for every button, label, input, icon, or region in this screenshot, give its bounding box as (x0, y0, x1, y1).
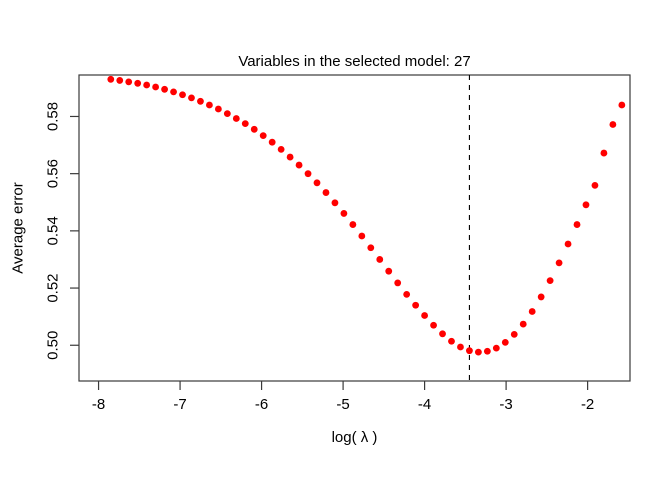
data-point (323, 189, 330, 196)
data-point (143, 82, 150, 89)
data-point (457, 344, 464, 351)
data-point (511, 331, 518, 338)
data-point (609, 121, 616, 128)
data-point (278, 146, 285, 153)
plot-window: -8-7-6-5-4-3-2 0.500.520.540.560.58 Vari… (0, 0, 672, 480)
data-point (215, 106, 222, 113)
data-point (269, 139, 276, 146)
cv-error-vs-log-lambda-plot: -8-7-6-5-4-3-2 0.500.520.540.560.58 Vari… (0, 0, 672, 480)
data-point (116, 77, 123, 84)
data-point (547, 277, 554, 284)
data-point (601, 150, 608, 157)
y-tick-label: 0.58 (45, 102, 62, 131)
data-point (403, 291, 410, 298)
data-point (439, 330, 446, 337)
plot-title: Variables in the selected model: 27 (238, 53, 470, 70)
data-point (188, 94, 195, 101)
data-point (618, 102, 625, 109)
data-point (475, 349, 482, 356)
data-point (556, 259, 563, 266)
data-point (583, 201, 590, 208)
data-point (421, 312, 428, 319)
x-tick-label: -3 (499, 396, 512, 413)
data-point (565, 241, 572, 248)
data-point (538, 294, 545, 301)
data-point (161, 86, 168, 93)
data-point (341, 210, 348, 217)
y-axis-ticks (70, 116, 79, 345)
data-point (484, 348, 491, 355)
x-tick-label: -5 (336, 396, 349, 413)
data-point (394, 280, 401, 287)
y-axis-title: Average error (10, 182, 27, 273)
data-point (412, 302, 419, 309)
data-point (314, 179, 321, 186)
data-point (592, 182, 599, 189)
data-point (493, 345, 500, 352)
y-tick-label: 0.54 (45, 216, 62, 245)
plot-frame (79, 75, 630, 381)
data-point (197, 98, 204, 105)
data-point (502, 339, 509, 346)
data-point (332, 199, 339, 206)
data-point (430, 322, 437, 329)
data-point (349, 221, 356, 228)
data-point (206, 102, 213, 109)
x-axis-tick-labels: -8-7-6-5-4-3-2 (92, 396, 594, 413)
data-point (287, 154, 294, 161)
x-tick-label: -6 (255, 396, 268, 413)
data-point (385, 268, 392, 275)
y-tick-label: 0.56 (45, 159, 62, 188)
data-point (520, 321, 527, 328)
data-point (358, 233, 365, 240)
data-point (170, 88, 177, 95)
y-tick-label: 0.52 (45, 273, 62, 302)
data-point (529, 308, 536, 315)
data-point (448, 338, 455, 345)
data-point (367, 244, 374, 251)
data-point (233, 115, 240, 122)
data-point (107, 76, 114, 83)
y-axis-tick-labels: 0.500.520.540.560.58 (45, 102, 62, 360)
data-point (574, 221, 581, 228)
data-point (152, 84, 159, 91)
y-tick-label: 0.50 (45, 331, 62, 360)
x-axis-ticks (99, 381, 588, 390)
data-point (466, 347, 473, 354)
data-point (179, 91, 186, 98)
data-point (305, 170, 312, 177)
x-tick-label: -7 (173, 396, 186, 413)
x-tick-label: -4 (418, 396, 431, 413)
data-point (376, 256, 383, 263)
data-point (125, 78, 132, 85)
data-point (242, 120, 249, 127)
data-point (134, 80, 141, 87)
data-point-layer (107, 76, 625, 356)
x-axis-title: log( λ ) (332, 429, 378, 446)
x-tick-label: -2 (581, 396, 594, 413)
data-point (251, 126, 258, 133)
x-tick-label: -8 (92, 396, 105, 413)
data-point (296, 162, 303, 169)
data-point (260, 132, 267, 139)
data-point (224, 110, 231, 117)
